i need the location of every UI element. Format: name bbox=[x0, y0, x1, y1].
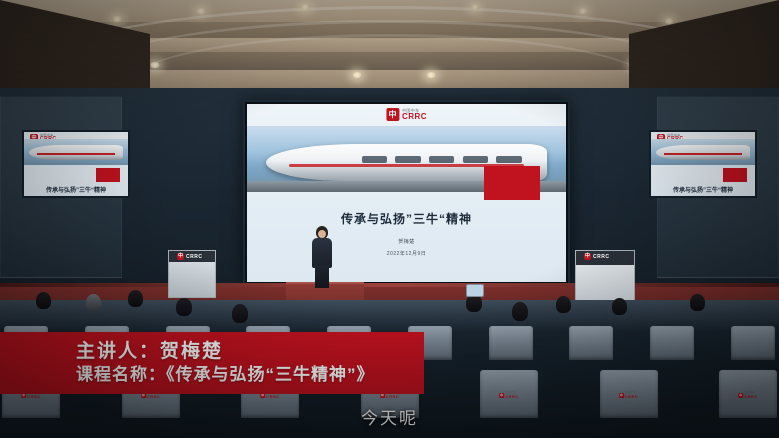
crrc-logo-icon: 中 CRRC bbox=[584, 253, 609, 260]
subtitle-text: 今天呢 bbox=[0, 404, 779, 429]
side-screen-left: 中 中国中车 CRRC 传承与弘扬”三牛“精神 bbox=[22, 130, 130, 198]
logo-name-en: CRRC bbox=[402, 113, 427, 121]
slide-accent-block bbox=[723, 168, 747, 182]
podium-left: 中 CRRC bbox=[168, 250, 216, 298]
logo-name-en: CRRC bbox=[625, 395, 639, 399]
logo-name-en: CRRC bbox=[505, 395, 519, 399]
attendee bbox=[690, 294, 705, 311]
attendee bbox=[556, 296, 571, 313]
seat bbox=[650, 326, 694, 360]
caption-presenter: 主讲人：贺梅楚 bbox=[76, 340, 424, 364]
ceiling-light bbox=[664, 18, 674, 24]
caption-course-name: 课程名称：《传承与弘扬“三牛精神”》 bbox=[76, 364, 424, 386]
logo-mark-icon: 中 bbox=[499, 393, 504, 398]
crrc-logo-icon: 中 CRRC bbox=[177, 253, 202, 260]
ceiling-light bbox=[470, 4, 480, 10]
lower-third-caption: 主讲人：贺梅楚 课程名称：《传承与弘扬“三牛精神”》 bbox=[0, 332, 424, 394]
tablet-device bbox=[466, 284, 484, 297]
logo-name-en: CRRC bbox=[386, 395, 400, 399]
seat bbox=[731, 326, 775, 360]
logo-name-en: CRRC bbox=[593, 254, 609, 260]
train-window bbox=[429, 156, 454, 163]
attendee bbox=[612, 298, 627, 315]
crrc-logo-icon: 中 中国中车 CRRC bbox=[738, 392, 758, 399]
video-frame: 中 中国中车 CRRC 传承与弘扬”三牛“精神 中 中国中车 CRRC bbox=[0, 0, 779, 438]
crrc-logo-icon: 中 中国中车 CRRC bbox=[619, 392, 639, 399]
ceiling-light bbox=[150, 62, 160, 68]
logo-name-en: CRRC bbox=[744, 395, 758, 399]
ceiling-light bbox=[112, 16, 122, 22]
logo-name-en: CRRC bbox=[186, 254, 202, 260]
high-speed-train-icon bbox=[29, 145, 123, 160]
podium-header: 中 CRRC bbox=[169, 251, 215, 262]
attendee bbox=[128, 290, 143, 307]
logo-mark-icon: 中 bbox=[584, 253, 591, 260]
slide-presenter: 贺梅楚 bbox=[247, 238, 566, 245]
high-speed-train-icon bbox=[656, 145, 750, 160]
ceiling-light bbox=[300, 4, 310, 10]
side-screen-left-title: 传承与弘扬”三牛“精神 bbox=[24, 185, 128, 194]
slide-accent-block bbox=[484, 166, 540, 200]
attendee bbox=[512, 302, 528, 321]
attendee bbox=[36, 292, 51, 309]
slide-title: 传承与弘扬”三牛“精神 bbox=[247, 210, 566, 227]
train-window bbox=[463, 156, 488, 163]
side-screen-right: 中 中国中车 CRRC 传承与弘扬”三牛“精神 bbox=[649, 130, 757, 198]
logo-mark-icon: 中 bbox=[738, 393, 743, 398]
main-presentation-screen: 中 中国中车 CRRC 传承与弘扬”三牛“精神 贺梅 bbox=[243, 100, 570, 286]
crrc-logo-icon: 中 中国中车 CRRC bbox=[499, 392, 519, 399]
ceiling-light bbox=[426, 72, 436, 78]
attendee bbox=[232, 304, 248, 323]
podium-header: 中 CRRC bbox=[576, 251, 634, 265]
speaker-body bbox=[312, 238, 332, 268]
ceiling-light bbox=[578, 8, 588, 14]
speaker-presenter bbox=[309, 226, 335, 288]
train-stripe bbox=[664, 153, 743, 155]
ceiling-light bbox=[352, 72, 362, 78]
crrc-logo-icon: 中 中国中车 CRRC bbox=[386, 108, 427, 121]
train-window bbox=[395, 156, 420, 163]
seat bbox=[569, 326, 613, 360]
attendee bbox=[176, 298, 192, 316]
logo-name-en: CRRC bbox=[27, 395, 41, 399]
train-window bbox=[362, 156, 387, 163]
train-photo bbox=[651, 139, 755, 165]
attendee bbox=[86, 294, 101, 311]
slide-date: 2022年12月9日 bbox=[247, 250, 566, 257]
logo-mark-icon: 中 bbox=[177, 253, 184, 260]
seat bbox=[489, 326, 533, 360]
logo-name-en: CRRC bbox=[266, 395, 280, 399]
speaker-face bbox=[318, 230, 326, 238]
logo-mark-icon: 中 bbox=[619, 393, 624, 398]
train-photo bbox=[24, 139, 128, 165]
slide-accent-block bbox=[96, 168, 120, 182]
train-stripe bbox=[37, 153, 116, 155]
side-screen-right-title: 传承与弘扬”三牛“精神 bbox=[651, 185, 755, 194]
slide: 中 中国中车 CRRC 传承与弘扬”三牛“精神 贺梅 bbox=[247, 104, 566, 282]
stage-edge bbox=[0, 283, 779, 287]
logo-name-en: CRRC bbox=[147, 395, 161, 399]
speaker-legs bbox=[315, 266, 329, 288]
logo-mark-icon: 中 bbox=[386, 108, 399, 121]
ceiling-light bbox=[196, 8, 206, 14]
train-window bbox=[496, 156, 521, 163]
